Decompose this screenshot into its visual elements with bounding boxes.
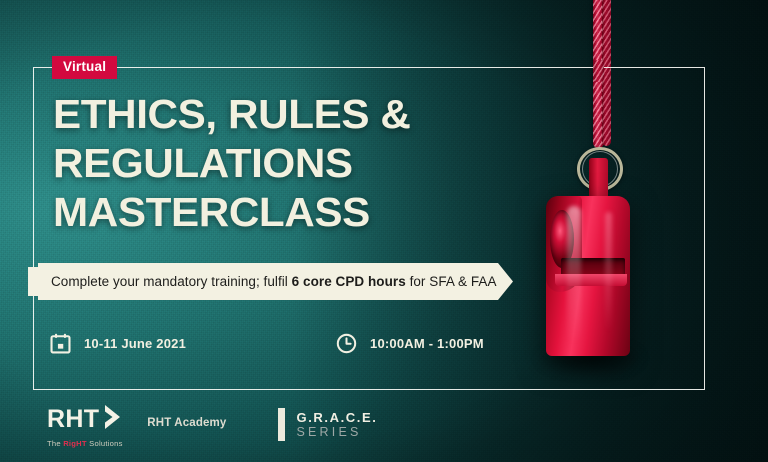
subtitle-ribbon: Complete your mandatory training; fulfil…: [28, 263, 513, 300]
grace-text-block: G.R.A.C.E. SERIES: [296, 410, 377, 440]
subtitle-highlight: 6 core CPD hours: [292, 274, 406, 289]
grace-acronym: G.R.A.C.E.: [296, 410, 377, 425]
page-title: ETHICS, RULES & REGULATIONS MASTERCLASS: [53, 90, 523, 237]
event-time: 10:00AM - 1:00PM: [336, 333, 484, 354]
event-date-text: 10-11 June 2021: [84, 336, 186, 351]
whistle-lip: [555, 274, 627, 286]
event-meta-row: 10-11 June 2021 10:00AM - 1:00PM: [50, 333, 484, 354]
grace-accent-bar: [278, 408, 285, 441]
rht-tagline-em: RigHT: [63, 439, 87, 448]
rht-tagline-post: Solutions: [87, 439, 123, 448]
chevron-right-icon: [102, 404, 124, 435]
title-line-3: MASTERCLASS: [53, 188, 537, 237]
subtitle-prefix: Complete your mandatory training; fulfil: [51, 274, 292, 289]
virtual-badge: Virtual: [52, 56, 117, 79]
grace-series-logo: G.R.A.C.E. SERIES: [278, 408, 377, 441]
subtitle-text: Complete your mandatory training; fulfil…: [51, 274, 497, 289]
whistle-highlight: [567, 206, 581, 344]
event-time-text: 10:00AM - 1:00PM: [370, 336, 484, 351]
title-line-1: ETHICS, RULES &: [53, 90, 537, 139]
whistle-highlight-secondary: [605, 212, 612, 332]
title-line-2: REGULATIONS: [53, 139, 537, 188]
rht-tagline: The RigHT Solutions: [47, 439, 124, 448]
lanyard-cord-over-frame: [593, 60, 604, 82]
rht-academy-label: RHT Academy: [147, 417, 226, 429]
rht-logo: RHT The RigHT Solutions: [47, 404, 124, 448]
rht-tagline-pre: The: [47, 439, 63, 448]
grace-series-word: SERIES: [296, 425, 377, 440]
event-promo-banner: Virtual ETHICS, RULES & REGULATIONS MAST…: [0, 0, 768, 462]
rht-wordmark: RHT: [47, 407, 99, 432]
subtitle-suffix: for SFA & FAA: [406, 274, 497, 289]
clock-icon: [336, 333, 357, 354]
footer-logos: RHT The RigHT Solutions RHT Academy G.R.…: [47, 404, 378, 448]
calendar-icon: [50, 333, 71, 354]
event-date: 10-11 June 2021: [50, 333, 186, 354]
rht-logo-top: RHT: [47, 404, 124, 435]
